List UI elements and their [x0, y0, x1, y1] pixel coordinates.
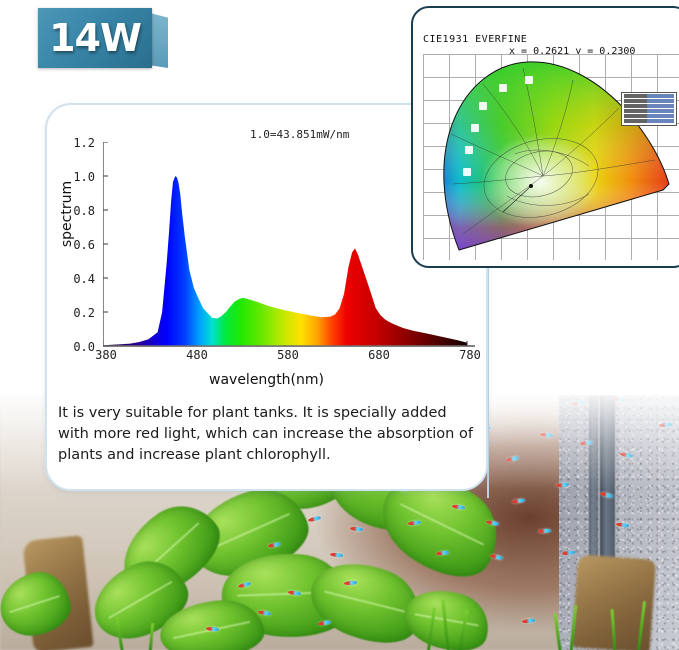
- badge-label: 14W: [38, 8, 152, 68]
- y-tick-label: 1.2: [61, 136, 95, 150]
- y-tick-label: 1.0: [61, 170, 95, 184]
- cie-source-legend: [621, 92, 677, 126]
- chart-scale-note: 1.0=43.851mW/nm: [250, 128, 349, 141]
- y-tick-label: 0.4: [61, 272, 95, 286]
- wattage-badge: 14W: [38, 8, 166, 68]
- cie-chromaticity-diagram: [423, 54, 679, 260]
- description-text: It is very suitable for plant tanks. It …: [58, 403, 478, 466]
- tank-inner-post: [589, 395, 598, 570]
- y-tick-label: 0.2: [61, 306, 95, 320]
- cie-horseshoe: [423, 54, 679, 260]
- cie-diagram-card: CIE1931 EVERFINE x = 0.2621 y = 0.2300 T…: [411, 6, 679, 268]
- cie-title: CIE1931 EVERFINE: [423, 34, 527, 45]
- y-tick-label: 0.8: [61, 204, 95, 218]
- y-tick-label: 0.6: [61, 238, 95, 252]
- x-axis-title: wavelength(nm): [45, 372, 488, 388]
